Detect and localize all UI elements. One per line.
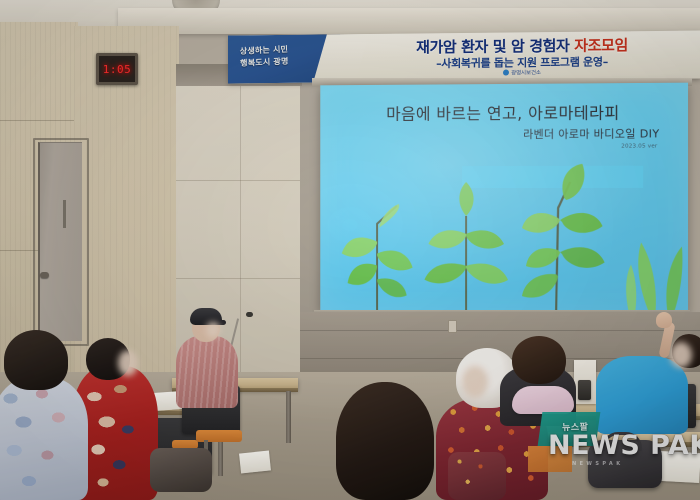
tote-bag — [150, 448, 212, 492]
orange-sign-board — [528, 446, 572, 472]
exit-door[interactable] — [38, 142, 82, 341]
projection-screen: 마음에 바르는 연고, 아로마테라피 라벤더 아로마 바디오일 DIY 2023… — [320, 83, 688, 314]
panel-seam — [240, 86, 241, 374]
panel-seam — [176, 180, 302, 181]
chair-seat[interactable] — [196, 430, 242, 442]
power-outlet-icon — [448, 320, 457, 333]
slide-title: 마음에 바르는 연고, 아로마테라피 — [320, 99, 688, 125]
bag-handle — [602, 432, 642, 451]
event-banner: 상생하는 시민 행복도시 광명 재가암 환자 및 암 경험자 자조모임 –사회복… — [228, 31, 700, 84]
attendee-head — [512, 336, 566, 384]
patterned-bag — [448, 452, 506, 500]
table-leg — [286, 391, 291, 443]
face-blur — [206, 322, 220, 338]
teal-sign-board — [538, 412, 601, 446]
plant-illustration-icon — [320, 162, 688, 314]
panel-seam — [176, 278, 302, 279]
attendee-head — [336, 382, 434, 500]
raised-hand-icon — [656, 312, 672, 328]
banner-city-logo: 상생하는 시민 행복도시 광명 — [240, 42, 331, 70]
face-blur — [462, 366, 488, 398]
seminar-photo: 1:05 상생하는 시민 행복도시 광명 재가암 환자 및 암 경험자 자조모임… — [0, 0, 700, 500]
ceiling-beam — [118, 8, 700, 34]
face-blur — [670, 342, 692, 368]
product-bottle — [578, 380, 591, 400]
attendee-torso — [176, 336, 238, 408]
face-blur — [118, 350, 138, 376]
wall-seam — [300, 330, 700, 331]
banner-title-accent: 자조모임 — [574, 36, 628, 55]
paisley-pattern — [82, 374, 144, 500]
pink-hat — [512, 386, 574, 414]
led-wall-clock: 1:05 — [96, 53, 138, 85]
door-hinge — [63, 200, 66, 228]
wall-panel — [240, 86, 302, 374]
handout-paper — [239, 450, 271, 473]
microphone-head-icon — [246, 312, 253, 317]
door-handle[interactable] — [40, 272, 49, 278]
attendee-torso — [596, 356, 688, 434]
banner-org-label: 광명시보건소 — [511, 70, 541, 76]
slide-subtitle: 라벤더 아로마 바디오일 DIY — [523, 125, 659, 142]
clock-digits: 1:05 — [103, 64, 132, 75]
attendee-head — [4, 330, 68, 390]
wall-seam — [0, 120, 78, 121]
floral-pattern — [0, 382, 86, 500]
handout-paper — [659, 451, 700, 483]
health-center-mark-icon — [503, 70, 509, 76]
slide-version-label: 2023.05 ver — [621, 143, 657, 149]
